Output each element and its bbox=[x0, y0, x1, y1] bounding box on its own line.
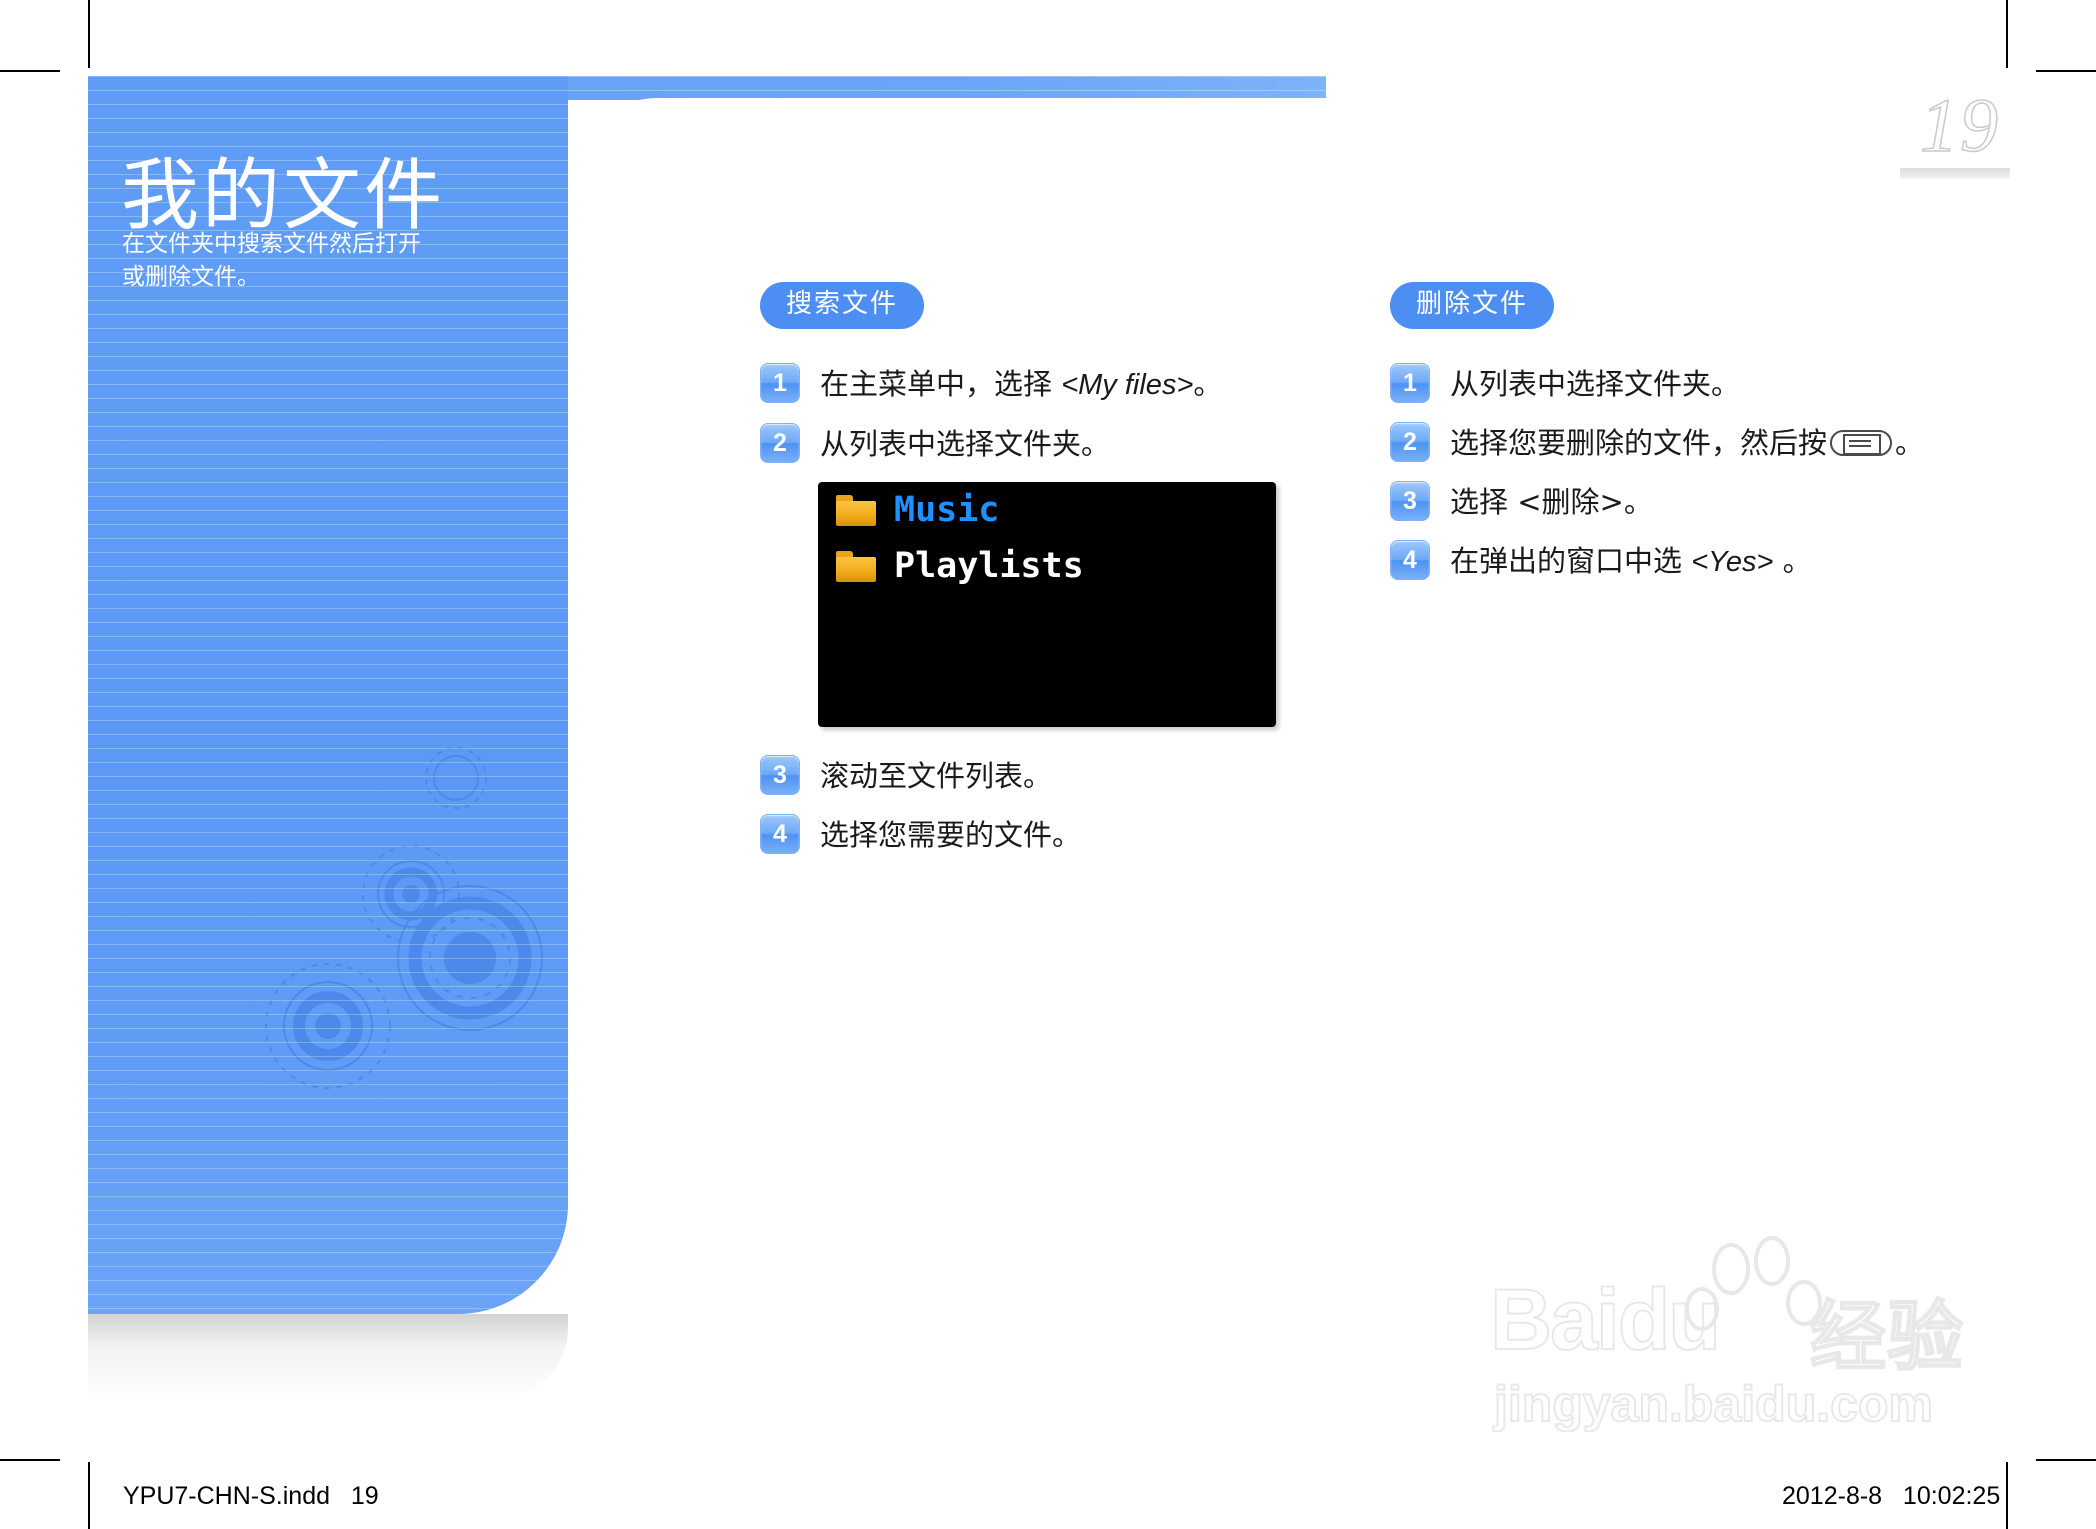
page-subtitle: 在文件夹中搜索文件然后打开或删除文件。 bbox=[122, 228, 422, 293]
step-text: 滚动至文件列表。 bbox=[820, 755, 1052, 796]
step-number-badge: 2 bbox=[760, 423, 800, 463]
step-number-badge: 3 bbox=[1390, 481, 1430, 521]
step-item: 4 选择您需要的文件。 bbox=[760, 814, 1320, 855]
step-number-badge: 4 bbox=[1390, 540, 1430, 580]
step-text: 在主菜单中，选择 <My files>。 bbox=[820, 363, 1222, 405]
step-number-badge: 3 bbox=[760, 755, 800, 795]
sidebar-panel: 我的文件 在文件夹中搜索文件然后打开或删除文件。 bbox=[88, 76, 568, 1314]
steps-search-files-upper: 1 在主菜单中，选择 <My files>。 2 从列表中选择文件夹。 bbox=[760, 363, 1320, 464]
baidu-watermark: Baidu 经验 jingyan.baidu.com bbox=[1490, 1235, 2010, 1450]
crop-mark-bottom-right bbox=[2006, 1462, 2008, 1529]
sidebar-reflection bbox=[88, 1314, 568, 1398]
step-item: 4 在弹出的窗口中选 <Yes> 。 bbox=[1390, 540, 2010, 582]
crop-mark-bottom-right-h bbox=[2036, 1459, 2096, 1461]
folder-icon bbox=[836, 551, 876, 582]
list-item: Music bbox=[818, 482, 1276, 538]
device-screen-file-list: Music Playlists bbox=[818, 482, 1276, 727]
page-number: 19 bbox=[1920, 88, 2000, 164]
step-text: 从列表中选择文件夹。 bbox=[1450, 363, 1740, 404]
step-number-badge: 1 bbox=[1390, 363, 1430, 403]
step-text: 选择您需要的文件。 bbox=[820, 814, 1081, 855]
step-item: 3 选择 <删除>。 bbox=[1390, 481, 2010, 522]
watermark-url: jingyan.baidu.com bbox=[1494, 1375, 1933, 1433]
list-item-label: Playlists bbox=[894, 549, 1084, 584]
crop-mark-left bbox=[0, 70, 60, 72]
steps-delete-files: 1 从列表中选择文件夹。 2 选择您要删除的文件，然后按。 3 选择 <删除>。… bbox=[1390, 363, 2010, 582]
menu-key-icon bbox=[1830, 430, 1892, 456]
step-item: 1 从列表中选择文件夹。 bbox=[1390, 363, 2010, 404]
step-text: 选择您要删除的文件，然后按。 bbox=[1450, 422, 1924, 463]
page-title: 我的文件 bbox=[121, 156, 445, 238]
crop-mark-bottom-left-h bbox=[0, 1459, 60, 1461]
step-text-part: 。 bbox=[1773, 544, 1811, 578]
step-text: 在弹出的窗口中选 <Yes> 。 bbox=[1450, 540, 1812, 582]
step-text: 从列表中选择文件夹。 bbox=[820, 423, 1110, 464]
section-badge-search-files: 搜索文件 bbox=[760, 282, 924, 329]
section-delete-files: 删除文件 1 从列表中选择文件夹。 2 选择您要删除的文件，然后按。 3 选择 … bbox=[1390, 282, 2010, 600]
list-item-label: Music bbox=[894, 493, 999, 528]
crop-mark-top-right bbox=[2006, 0, 2008, 68]
step-text-part: 。 bbox=[1895, 426, 1924, 460]
step-item: 3 滚动至文件列表。 bbox=[760, 755, 1320, 796]
step-number-badge: 1 bbox=[760, 363, 800, 403]
step-text-part: 在弹出的窗口中选 bbox=[1450, 544, 1691, 578]
step-text-part-en: <My files> bbox=[1061, 369, 1193, 401]
step-number-badge: 2 bbox=[1390, 422, 1430, 462]
steps-search-files-lower: 3 滚动至文件列表。 4 选择您需要的文件。 bbox=[760, 755, 1320, 873]
page-number-block: 19 bbox=[1920, 88, 2000, 164]
step-number-badge: 4 bbox=[760, 814, 800, 854]
step-text: 选择 <删除>。 bbox=[1450, 481, 1653, 522]
section-badge-delete-files: 删除文件 bbox=[1390, 282, 1554, 329]
list-item: Playlists bbox=[818, 538, 1276, 594]
watermark-brand: Baidu bbox=[1490, 1271, 1719, 1370]
step-text-part: 。 bbox=[1193, 367, 1222, 401]
section-search-files: 搜索文件 1 在主菜单中，选择 <My files>。 2 从列表中选择文件夹。 bbox=[760, 282, 1320, 482]
watermark-brand-cn: 经验 bbox=[1810, 1275, 1964, 1385]
page-number-rule bbox=[1900, 168, 2010, 179]
baidu-paw-icon bbox=[1686, 1235, 1836, 1355]
crop-mark-top-left bbox=[88, 0, 90, 68]
step-text-part: 选择您要删除的文件，然后按 bbox=[1450, 426, 1827, 460]
step-item: 2 从列表中选择文件夹。 bbox=[760, 423, 1320, 464]
footer-timestamp: 2012-8-8 10:02:25 bbox=[1782, 1482, 2000, 1511]
crop-mark-right bbox=[2036, 70, 2096, 72]
step-item: 1 在主菜单中，选择 <My files>。 bbox=[760, 363, 1320, 405]
footer-file-name: YPU7-CHN-S.indd 19 bbox=[123, 1482, 379, 1511]
step-text-part: 在主菜单中，选择 bbox=[820, 367, 1061, 401]
step-text-part-en: <Yes> bbox=[1691, 546, 1773, 578]
folder-icon bbox=[836, 495, 876, 526]
header-band-curve-cut bbox=[568, 98, 1348, 218]
crop-mark-bottom-left bbox=[88, 1462, 90, 1529]
step-item: 2 选择您要删除的文件，然后按。 bbox=[1390, 422, 2010, 463]
